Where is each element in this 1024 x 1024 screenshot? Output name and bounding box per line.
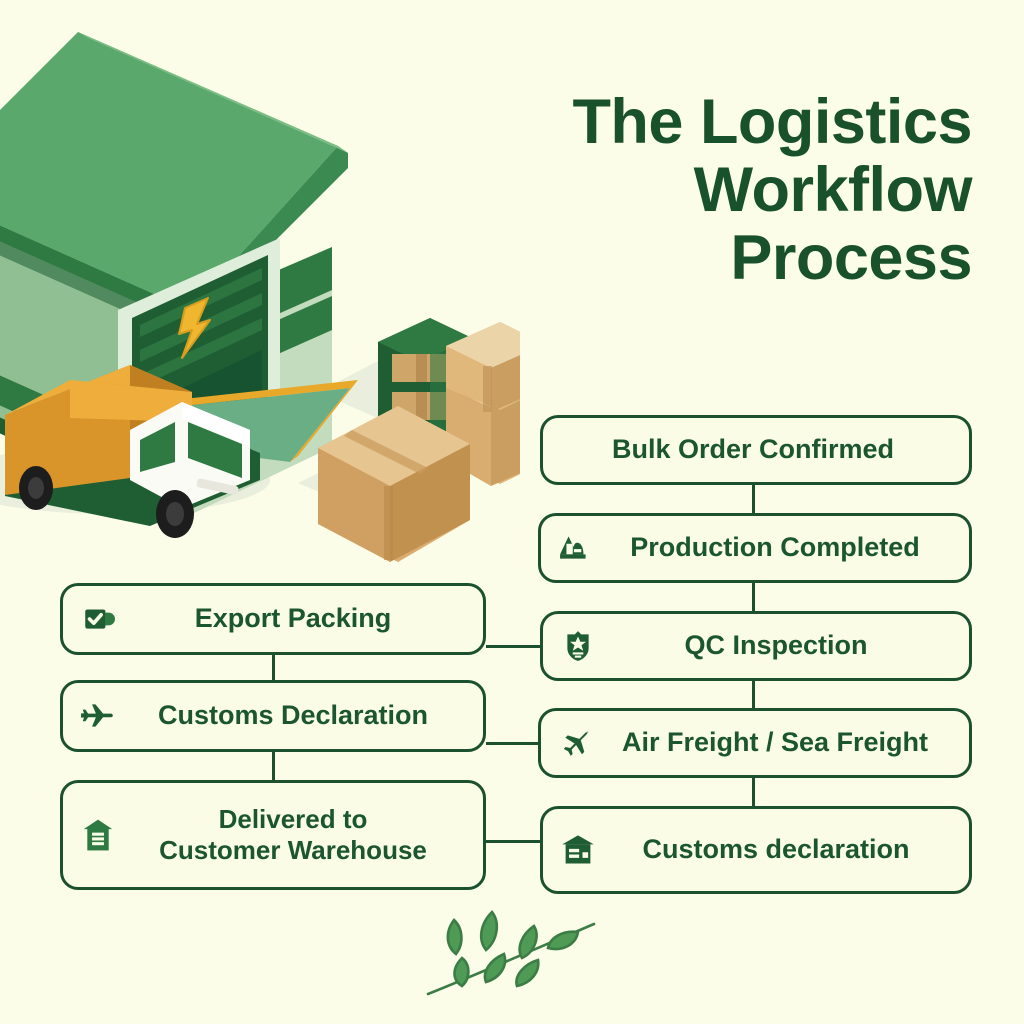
warehouse-building-icon	[77, 814, 119, 856]
node-production-completed[interactable]: Production Completed	[538, 513, 972, 583]
node-label: Bulk Order Confirmed	[557, 434, 955, 466]
connector-qc-to-export-packing	[486, 645, 542, 648]
connector-customs-to-delivered	[486, 840, 542, 843]
box-check-icon	[77, 598, 119, 640]
connector-qc-to-freight	[752, 680, 755, 708]
airplane-depart-icon	[77, 695, 119, 737]
warehouse-icon	[557, 829, 599, 871]
node-air-sea-freight[interactable]: Air Freight / Sea Freight	[538, 708, 972, 778]
node-bulk-order-confirmed[interactable]: Bulk Order Confirmed	[540, 415, 972, 485]
title-line-2: Workflow	[372, 156, 972, 224]
title-line-3: Process	[372, 224, 972, 292]
connector-bulk-to-production	[752, 485, 755, 515]
node-label: Production Completed	[601, 532, 955, 564]
airplane-icon	[555, 722, 597, 764]
connector-customs-to-delivered	[272, 752, 275, 780]
node-label: Export Packing	[123, 603, 469, 635]
node-label: Customs Declaration	[123, 700, 469, 732]
connector-production-to-qc	[752, 583, 755, 613]
connector-freight-to-customs	[752, 778, 755, 806]
connector-packing-to-customs	[272, 655, 275, 683]
infographic-canvas: The Logistics Workflow Process Bulk Orde…	[0, 0, 1024, 1024]
title-line-1: The Logistics	[372, 88, 972, 156]
olive-leaf-branch	[418, 898, 618, 1008]
node-label-line-2: Customer Warehouse	[159, 835, 427, 865]
node-label: Air Freight / Sea Freight	[601, 727, 955, 759]
factory-icon	[555, 527, 597, 569]
page-title: The Logistics Workflow Process	[372, 88, 972, 292]
connector-freight-to-customs-declaration	[486, 742, 542, 745]
node-customs-declaration-right[interactable]: Customs declaration	[540, 806, 972, 894]
node-label: QC Inspection	[603, 630, 955, 662]
node-export-packing[interactable]: Export Packing	[60, 583, 486, 655]
shield-star-icon	[557, 625, 599, 667]
node-label: Delivered to Customer Warehouse	[123, 804, 469, 865]
node-qc-inspection[interactable]: QC Inspection	[540, 611, 972, 681]
node-delivered-to-customer-warehouse[interactable]: Delivered to Customer Warehouse	[60, 780, 486, 890]
node-label: Customs declaration	[603, 834, 955, 866]
node-label-line-1: Delivered to	[219, 804, 368, 834]
node-customs-declaration-left[interactable]: Customs Declaration	[60, 680, 486, 752]
